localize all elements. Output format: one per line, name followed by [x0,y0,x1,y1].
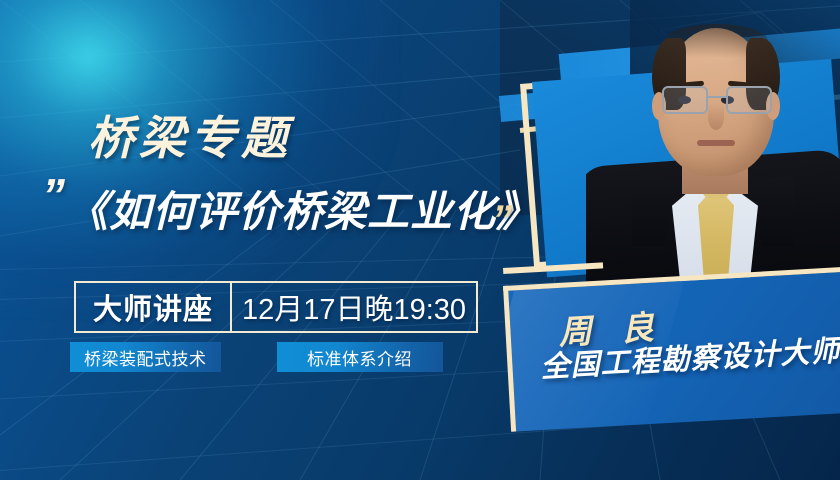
lecture-info-box: 大师讲座 12月17日晚19:30 [74,281,478,333]
topic-tag: 桥梁装配式技术 [70,342,221,372]
topic-tag: 标准体系介绍 [277,342,443,372]
speaker-name-panel: 周 良 全国工程勘察设计大师 [503,264,840,432]
topic-title: 桥梁专题 [88,102,292,168]
quote-open-mark: ” [42,172,65,218]
speaker-portrait [586,0,840,300]
lecture-title: 《如何评价桥梁工业化》 [66,178,539,239]
lecture-datetime: 12月17日晚19:30 [232,283,476,331]
lecture-series-label: 大师讲座 [76,283,232,331]
topic-tag-list: 桥梁装配式技术 标准体系介绍 [70,342,443,372]
quote-close-mark: ” [492,200,512,240]
lecture-poster: 桥梁专题 ” 《如何评价桥梁工业化》 ” 大师讲座 12月17日晚19:30 桥… [0,0,840,480]
